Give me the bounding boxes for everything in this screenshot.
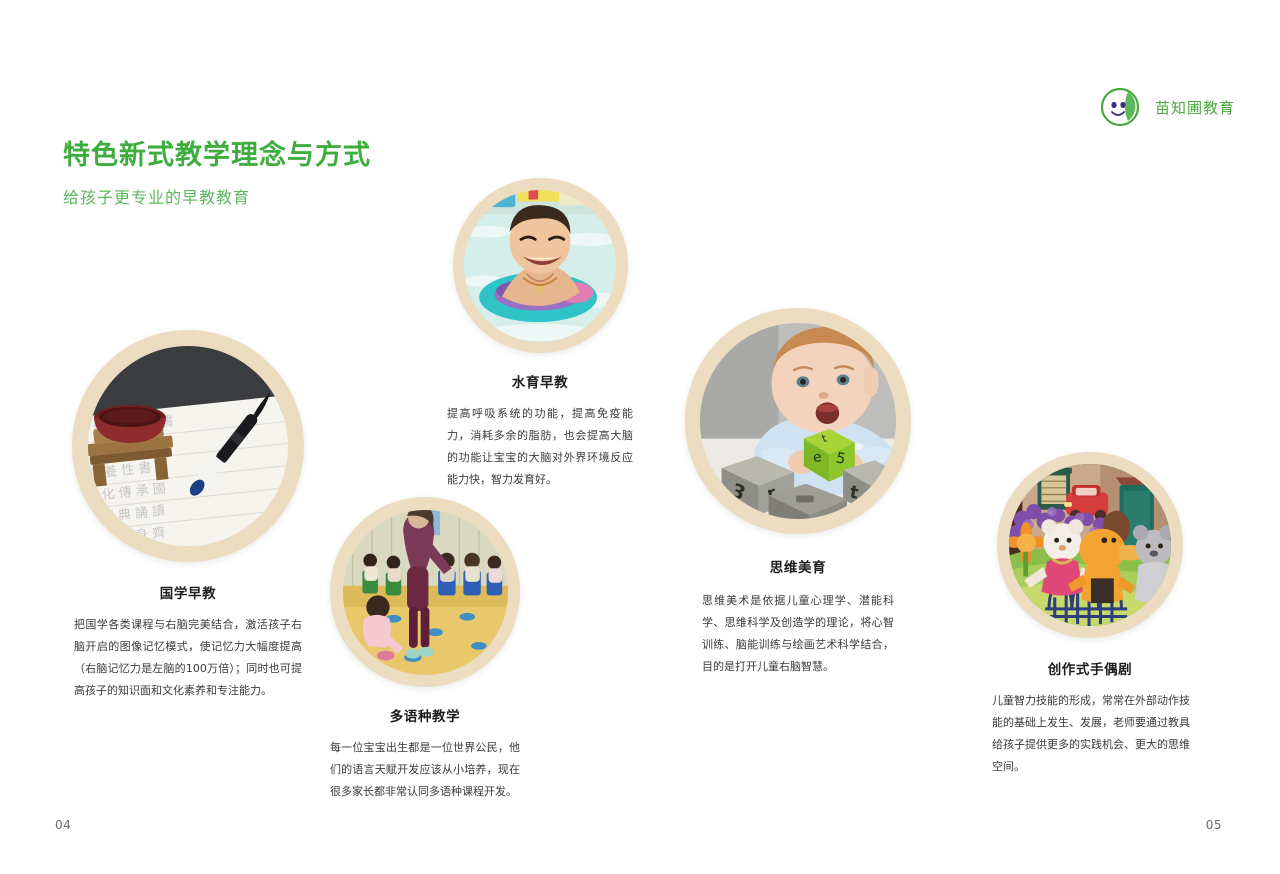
feature-guoxue: 書 道 書 道 書 靜 心 習 字 修 身 養 性 書 法 文 化 傳 承 國 … (63, 330, 313, 702)
photo-ring: 書 道 書 道 書 靜 心 習 字 修 身 養 性 書 法 文 化 傳 承 國 … (72, 330, 304, 562)
feature-title: 国学早教 (63, 582, 313, 602)
page-title: 特色新式教学理念与方式 (63, 133, 371, 172)
classroom-activity-photo (343, 510, 508, 675)
child-swimming-photo (464, 190, 616, 342)
page-number-left: 04 (55, 818, 71, 832)
feature-body: 把国学各类课程与右脑完美结合，激活孩子右脑开启的图像记忆模式，使记忆力大幅度提高… (74, 614, 302, 702)
svg-text:明 德 修 身 齊: 明 德 修 身 齊 (88, 525, 166, 546)
feature-title: 思维美育 (685, 556, 911, 576)
brand-name: 苗知圃教育 (1155, 97, 1235, 118)
feature-title: 多语种教学 (325, 705, 525, 725)
feature-title: 水育早教 (440, 371, 640, 391)
page-subtitle: 给孩子更专业的早教教育 (63, 184, 250, 208)
feature-shouou: 创作式手偶剧 儿童智力技能的形成，常常在外部动作技能的基础上发生、发展，老师要通… (990, 452, 1190, 778)
feature-body: 提高呼吸系统的功能，提高免疫能力，消耗多余的脂肪，也会提高大脑的功能让宝宝的大脑… (447, 403, 633, 491)
feature-shuiyu: 水育早教 提高呼吸系统的功能，提高免疫能力，消耗多余的脂肪，也会提高大脑的功能让… (440, 178, 640, 491)
leaf-smiley-logo-icon (1098, 83, 1146, 131)
photo-ring (330, 497, 520, 687)
feature-siwei: e 5 t 3 r (685, 308, 911, 678)
brochure-spread: 苗知圃教育 特色新式教学理念与方式 给孩子更专业的早教教育 書 道 書 道 書 … (0, 0, 1280, 874)
page-number-right: 05 (1206, 818, 1222, 832)
calligraphy-practice-photo: 書 道 書 道 書 靜 心 習 字 修 身 養 性 書 法 文 化 傳 承 國 … (88, 346, 288, 546)
puppet-show-photo (1009, 464, 1171, 626)
baby-with-blocks-photo: e 5 t 3 r (700, 323, 896, 519)
feature-duoyu: 多语种教学 每一位宝宝出生都是一位世界公民，他们的语言天赋开发应该从小培养，现在… (325, 497, 525, 803)
feature-body: 每一位宝宝出生都是一位世界公民，他们的语言天赋开发应该从小培养，现在很多家长都非… (330, 737, 520, 803)
feature-title: 创作式手偶剧 (990, 658, 1190, 678)
feature-body: 儿童智力技能的形成，常常在外部动作技能的基础上发生、发展，老师要通过教具给孩子提… (992, 690, 1190, 778)
brand-logo: 苗知圃教育 (1098, 83, 1235, 131)
feature-body: 思维美术是依据儿童心理学、潜能科学、思维科学及创造学的理论，将心智训练、脑能训练… (702, 590, 894, 678)
photo-ring (453, 178, 628, 353)
photo-ring: e 5 t 3 r (685, 308, 911, 534)
photo-ring (997, 452, 1183, 638)
